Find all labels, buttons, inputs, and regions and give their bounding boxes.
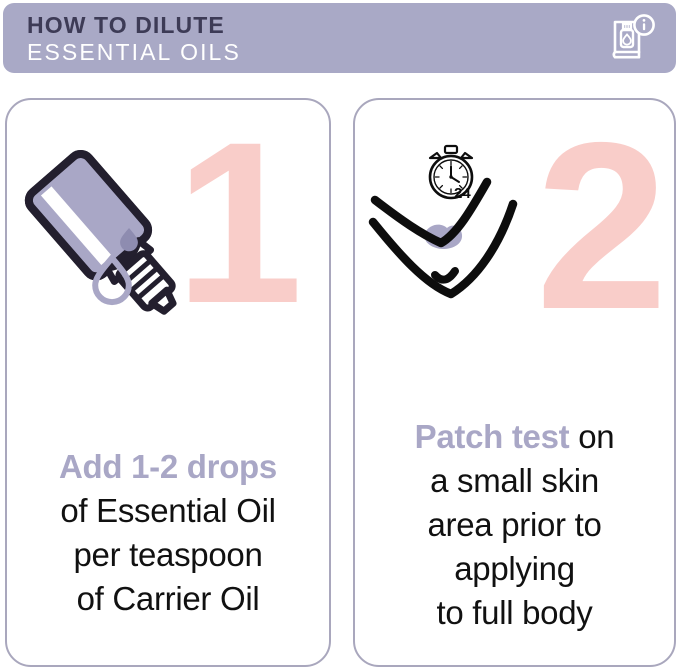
dropper-bottle-illustration (19, 130, 189, 385)
page-title-primary: HOW TO DILUTE (27, 12, 241, 38)
stopwatch-hours-label: 24 (454, 185, 471, 202)
step-card-1: 1 (5, 98, 331, 667)
step-2-description: Patch test on a small skin area prior to… (355, 415, 674, 635)
banner-titles: HOW TO DILUTE ESSENTIAL OILS (27, 11, 241, 66)
step-1-line-1: Add 1-2 drops (15, 445, 321, 489)
header-banner: HOW TO DILUTE ESSENTIAL OILS (3, 3, 676, 73)
step-1-line-3: per teaspoon (15, 533, 321, 577)
step-1-line-4: of Carrier Oil (15, 577, 321, 621)
step-card-2: 2 (353, 98, 676, 667)
step-number-1: 1 (175, 108, 299, 338)
step-2-line-4: applying (363, 547, 666, 591)
step-2-highlight: Patch test (415, 418, 570, 455)
infographic-page: HOW TO DILUTE ESSENTIAL OILS (0, 0, 679, 672)
step-2-line-1-plain: on (569, 418, 614, 455)
step-2-line-2: a small skin (363, 459, 666, 503)
page-title-secondary: ESSENTIAL OILS (27, 39, 241, 66)
step-2-line-3: area prior to (363, 503, 666, 547)
step-1-description: Add 1-2 drops of Essential Oil per teasp… (7, 445, 329, 621)
oil-bottle-info-icon (606, 12, 658, 64)
step-2-line-5: to full body (363, 591, 666, 635)
step-1-highlight: Add 1-2 drops (59, 448, 277, 485)
step-1-line-2: of Essential Oil (15, 489, 321, 533)
bent-arm-patch-test-illustration: 24 (363, 138, 573, 353)
step-2-line-1: Patch test on (363, 415, 666, 459)
